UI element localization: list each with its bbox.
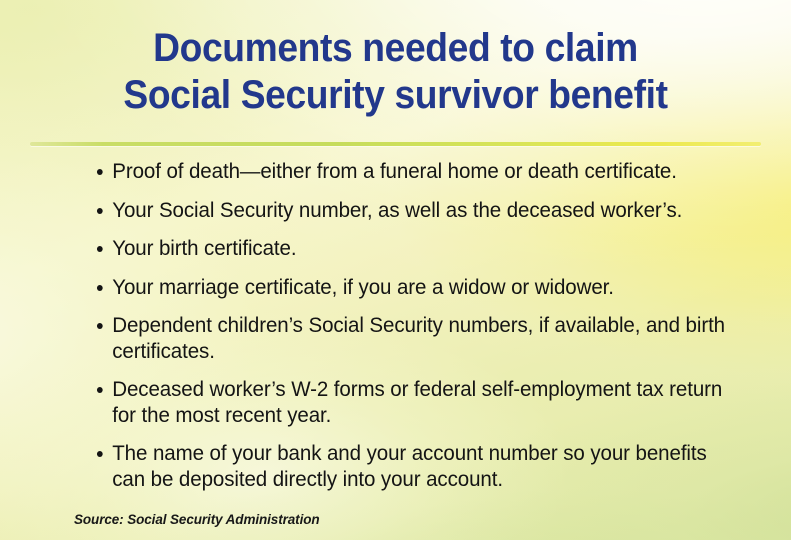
- list-item: Your birth certificate.: [96, 236, 726, 262]
- page-title: Documents needed to claim Social Securit…: [0, 25, 791, 119]
- title-line-2: Social Security survivor benefit: [28, 72, 764, 119]
- title-divider-rule: [30, 142, 761, 146]
- infographic-content: Documents needed to claim Social Securit…: [0, 0, 791, 540]
- list-item: Proof of death—either from a funeral hom…: [96, 159, 726, 185]
- list-item: Your Social Security number, as well as …: [96, 198, 726, 224]
- title-line-1: Documents needed to claim: [28, 25, 764, 72]
- source-attribution: Source: Social Security Administration: [74, 512, 320, 527]
- infographic-card: Documents needed to claim Social Securit…: [0, 0, 791, 540]
- documents-list: Proof of death—either from a funeral hom…: [96, 159, 756, 505]
- list-item: Deceased worker’s W-2 forms or federal s…: [96, 377, 726, 428]
- list-item: Dependent children’s Social Security num…: [96, 313, 726, 364]
- list-item: The name of your bank and your account n…: [96, 441, 726, 492]
- list-item: Your marriage certificate, if you are a …: [96, 275, 726, 301]
